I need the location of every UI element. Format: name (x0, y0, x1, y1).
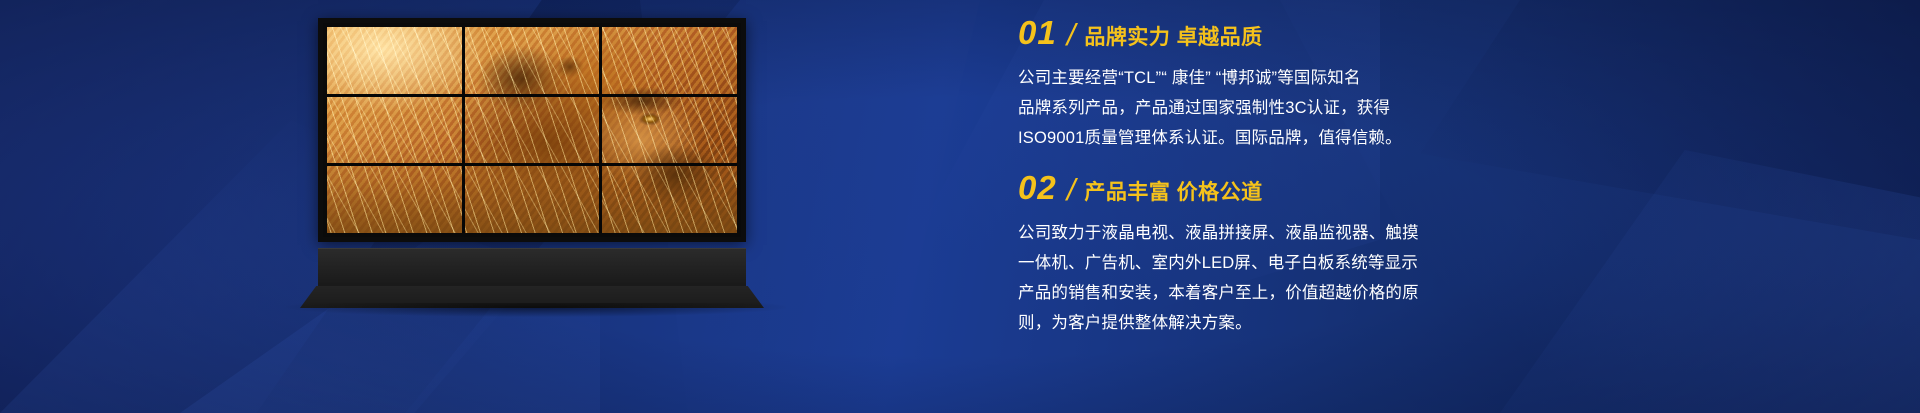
feature-description-line: 一体机、广告机、室内外LED屏、电子白板系统等显示 (1018, 248, 1438, 278)
video-wall-panel (327, 166, 462, 233)
video-wall-frame (318, 18, 746, 242)
feature-description-line: 品牌系列产品，产品通过国家强制性3C认证，获得 (1018, 93, 1438, 123)
feature-item-02: 02 / 产品丰富 价格公道 公司致力于液晶电视、液晶拼接屏、液晶监视器、触摸 … (1018, 171, 1578, 338)
feature-heading: 01 / 品牌实力 卓越品质 (1018, 16, 1578, 49)
feature-number: 02 (1018, 171, 1057, 204)
feature-description-line: 公司主要经营“TCL”“ 康佳” “博邦诚”等国际知名 (1018, 63, 1438, 93)
feature-description-line: 公司致力于液晶电视、液晶拼接屏、液晶监视器、触摸 (1018, 218, 1438, 248)
video-wall-grid (327, 27, 737, 233)
video-wall-panel (465, 27, 600, 94)
banner-stage: 01 / 品牌实力 卓越品质 公司主要经营“TCL”“ 康佳” “博邦诚”等国际… (0, 0, 1920, 413)
video-wall-panel (602, 97, 737, 164)
background-vignette (0, 0, 1920, 413)
video-wall-panel (327, 27, 462, 94)
display-stand-shadow (286, 303, 786, 317)
video-wall-display (318, 18, 746, 242)
feature-separator-icon: / (1067, 174, 1076, 205)
feature-heading: 02 / 产品丰富 价格公道 (1018, 171, 1578, 204)
video-wall-panel (465, 166, 600, 233)
feature-number: 01 (1018, 16, 1057, 49)
feature-description: 公司致力于液晶电视、液晶拼接屏、液晶监视器、触摸 一体机、广告机、室内外LED屏… (1018, 218, 1438, 338)
feature-title: 产品丰富 价格公道 (1084, 182, 1262, 203)
feature-description: 公司主要经营“TCL”“ 康佳” “博邦诚”等国际知名 品牌系列产品，产品通过国… (1018, 63, 1438, 153)
feature-item-01: 01 / 品牌实力 卓越品质 公司主要经营“TCL”“ 康佳” “博邦诚”等国际… (1018, 16, 1578, 153)
video-wall-panel (465, 97, 600, 164)
video-wall-panel (327, 97, 462, 164)
feature-list: 01 / 品牌实力 卓越品质 公司主要经营“TCL”“ 康佳” “博邦诚”等国际… (1018, 16, 1578, 356)
feature-description-line: 则，为客户提供整体解决方案。 (1018, 308, 1438, 338)
feature-separator-icon: / (1067, 19, 1076, 50)
video-wall-panel (602, 166, 737, 233)
feature-description-line: ISO9001质量管理体系认证。国际品牌，值得信赖。 (1018, 123, 1438, 153)
display-stand-neck (318, 248, 746, 287)
feature-title: 品牌实力 卓越品质 (1084, 27, 1262, 48)
feature-description-line: 产品的销售和安装，本着客户至上，价值超越价格的原 (1018, 278, 1438, 308)
video-wall-panel (602, 27, 737, 94)
